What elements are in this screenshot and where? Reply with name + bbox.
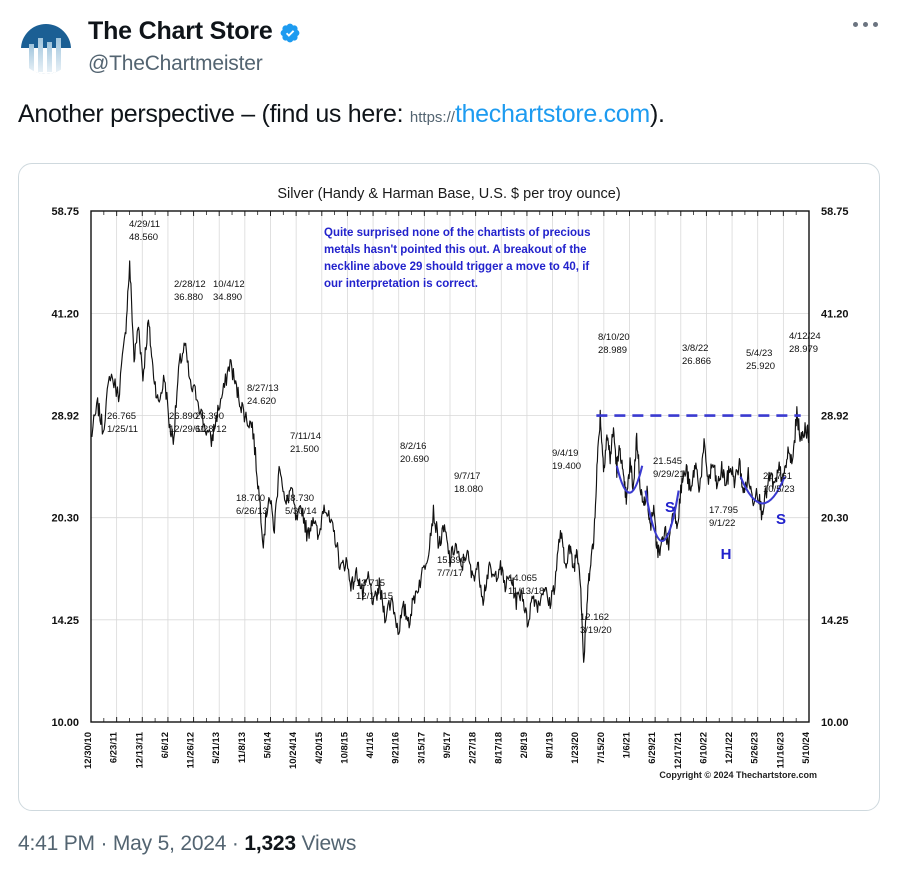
svg-text:21.500: 21.500 (290, 444, 319, 455)
svg-text:8/2/16: 8/2/16 (400, 441, 426, 452)
svg-text:18.700: 18.700 (236, 493, 265, 504)
tweet-text-before: Another perspective – (find us here: (18, 100, 410, 128)
svg-text:2/28/12: 2/28/12 (174, 279, 206, 290)
svg-text:1/23/20: 1/23/20 (570, 732, 581, 764)
svg-text:1/6/21: 1/6/21 (622, 731, 633, 758)
svg-text:5/6/14: 5/6/14 (263, 731, 274, 758)
svg-text:6/6/12: 6/6/12 (160, 732, 171, 758)
svg-text:10.00: 10.00 (821, 717, 849, 729)
svg-text:7/7/17: 7/7/17 (437, 568, 463, 579)
display-name[interactable]: The Chart Store (88, 16, 273, 46)
svg-text:12/13/11: 12/13/11 (134, 731, 145, 768)
post-date: May 5, 2024 (113, 832, 226, 855)
views-label: Views (302, 832, 357, 855)
svg-text:12/17/21: 12/17/21 (673, 731, 684, 769)
svg-text:58.75: 58.75 (821, 206, 849, 218)
svg-text:10/4/12: 10/4/12 (213, 279, 245, 290)
svg-text:4/29/11: 4/29/11 (129, 219, 160, 230)
logo-bar (29, 44, 34, 72)
post-time: 4:41 PM (18, 832, 95, 855)
svg-text:26.765: 26.765 (107, 411, 136, 422)
svg-text:6/28/12: 6/28/12 (195, 424, 227, 435)
svg-text:21.545: 21.545 (653, 456, 682, 467)
svg-text:11/16/23: 11/16/23 (775, 732, 786, 768)
svg-text:11/13/18: 11/13/18 (508, 586, 544, 597)
svg-text:Copyright © 2024 Thechartstore: Copyright © 2024 Thechartstore.com (659, 770, 817, 780)
svg-text:1/25/11: 1/25/11 (107, 424, 138, 435)
svg-text:20.30: 20.30 (51, 513, 79, 525)
svg-text:8/10/20: 8/10/20 (598, 332, 630, 343)
svg-text:28.92: 28.92 (821, 411, 849, 423)
more-options-icon[interactable] (853, 22, 878, 27)
svg-text:26.390: 26.390 (195, 411, 224, 422)
logo-bar (47, 42, 52, 72)
svg-text:neckline above 29 should trigg: neckline above 29 should trigger a move … (324, 261, 589, 273)
svg-text:4/20/15: 4/20/15 (314, 731, 325, 763)
svg-text:48.560: 48.560 (129, 232, 158, 243)
svg-text:11/26/12: 11/26/12 (186, 732, 197, 768)
svg-text:10/5/23: 10/5/23 (763, 484, 795, 495)
svg-text:28.989: 28.989 (598, 345, 627, 356)
svg-text:2/8/19: 2/8/19 (519, 732, 530, 758)
svg-text:14.25: 14.25 (51, 615, 79, 627)
more-dot (863, 22, 868, 27)
svg-text:10/24/14: 10/24/14 (288, 731, 299, 769)
avatar[interactable] (18, 18, 74, 74)
svg-text:2/27/18: 2/27/18 (468, 732, 479, 764)
link-scheme: https:// (410, 109, 455, 126)
svg-text:25.920: 25.920 (746, 361, 775, 372)
logo-bar (56, 38, 61, 72)
svg-text:28.92: 28.92 (51, 411, 79, 423)
svg-text:24.620: 24.620 (247, 396, 276, 407)
svg-text:5/10/24: 5/10/24 (801, 731, 812, 763)
svg-text:6/23/11: 6/23/11 (109, 731, 120, 763)
svg-text:9/5/17: 9/5/17 (442, 732, 453, 758)
svg-text:12/30/10: 12/30/10 (83, 732, 94, 769)
svg-text:18.730: 18.730 (285, 493, 314, 504)
svg-text:S: S (665, 499, 675, 516)
svg-text:12/1/22: 12/1/22 (724, 732, 735, 764)
svg-text:Quite surprised none of the ch: Quite surprised none of the chartists of… (324, 227, 590, 239)
svg-text:14.065: 14.065 (508, 573, 537, 584)
svg-text:12/17/15: 12/17/15 (356, 591, 393, 602)
svg-text:3/15/17: 3/15/17 (416, 732, 427, 764)
svg-text:5/26/23: 5/26/23 (750, 732, 761, 764)
chart-canvas: 10.0010.0014.2514.2520.3020.3028.9228.92… (19, 164, 880, 811)
svg-text:3/19/20: 3/19/20 (580, 625, 612, 636)
svg-text:12.162: 12.162 (580, 612, 609, 623)
name-row: The Chart Store (88, 16, 301, 46)
svg-text:5/4/23: 5/4/23 (746, 348, 772, 359)
svg-text:58.75: 58.75 (51, 206, 79, 218)
svg-text:10.00: 10.00 (51, 717, 79, 729)
svg-text:4/12/24: 4/12/24 (789, 331, 821, 342)
svg-text:7/11/14: 7/11/14 (290, 431, 321, 442)
more-dot (873, 22, 878, 27)
svg-text:26.890: 26.890 (169, 411, 198, 422)
tweet-metadata: 4:41 PM · May 5, 2024 · 1,323 Views (18, 832, 356, 856)
svg-text:8/17/18: 8/17/18 (493, 732, 504, 764)
svg-text:S: S (776, 511, 786, 528)
svg-text:5/21/13: 5/21/13 (211, 732, 222, 764)
svg-text:6/29/21: 6/29/21 (647, 731, 658, 763)
svg-text:18.080: 18.080 (454, 484, 483, 495)
svg-text:H: H (721, 546, 732, 563)
svg-text:our interpretation is correct.: our interpretation is correct. (324, 278, 478, 290)
account-identity: The Chart Store @TheChartmeister (88, 16, 301, 76)
svg-text:4/1/16: 4/1/16 (365, 732, 376, 758)
svg-text:20.761: 20.761 (763, 471, 792, 482)
svg-text:metals hasn't pointed this out: metals hasn't pointed this out. A breako… (324, 244, 587, 256)
svg-text:28.979: 28.979 (789, 344, 818, 355)
metadata-separator: · (232, 832, 239, 855)
svg-text:10/8/15: 10/8/15 (339, 731, 350, 763)
svg-text:9/4/19: 9/4/19 (552, 448, 578, 459)
svg-text:9/21/16: 9/21/16 (391, 732, 402, 764)
svg-text:36.880: 36.880 (174, 292, 203, 303)
chart-card[interactable]: Silver (Handy & Harman Base, U.S. $ per … (18, 163, 880, 811)
svg-text:11/8/13: 11/8/13 (237, 732, 248, 763)
tweet-text-after: ). (650, 100, 665, 128)
tweet-header: The Chart Store @TheChartmeister (0, 0, 900, 76)
logo-bar (38, 38, 43, 72)
svg-text:20.30: 20.30 (821, 513, 849, 525)
svg-text:14.25: 14.25 (821, 615, 849, 627)
svg-text:13.715: 13.715 (356, 578, 385, 589)
svg-text:9/1/22: 9/1/22 (709, 518, 735, 529)
svg-text:26.866: 26.866 (682, 356, 711, 367)
svg-text:5/30/14: 5/30/14 (285, 506, 317, 517)
silver-price-chart: 10.0010.0014.2514.2520.3020.3028.9228.92… (19, 164, 880, 811)
svg-text:3/8/22: 3/8/22 (682, 343, 708, 354)
account-handle[interactable]: @TheChartmeister (88, 51, 301, 76)
views-count: 1,323 (244, 832, 296, 855)
svg-text:20.690: 20.690 (400, 454, 429, 465)
svg-text:7/15/20: 7/15/20 (596, 732, 607, 764)
svg-text:6/26/13: 6/26/13 (236, 506, 268, 517)
external-link[interactable]: thechartstore.com (455, 100, 650, 128)
svg-text:41.20: 41.20 (821, 308, 849, 320)
tweet-text: Another perspective – (find us here: htt… (0, 76, 900, 132)
svg-text:15.390: 15.390 (437, 555, 466, 566)
svg-text:9/29/21: 9/29/21 (653, 469, 685, 480)
verified-badge-icon (279, 22, 301, 44)
svg-text:41.20: 41.20 (51, 308, 79, 320)
svg-text:6/10/22: 6/10/22 (698, 732, 709, 764)
metadata-separator: · (100, 832, 107, 855)
svg-text:8/27/13: 8/27/13 (247, 383, 279, 394)
svg-text:19.400: 19.400 (552, 461, 581, 472)
svg-text:8/1/19: 8/1/19 (545, 732, 556, 758)
svg-text:9/7/17: 9/7/17 (454, 471, 480, 482)
svg-text:34.890: 34.890 (213, 292, 242, 303)
svg-text:17.795: 17.795 (709, 505, 738, 516)
more-dot (853, 22, 858, 27)
